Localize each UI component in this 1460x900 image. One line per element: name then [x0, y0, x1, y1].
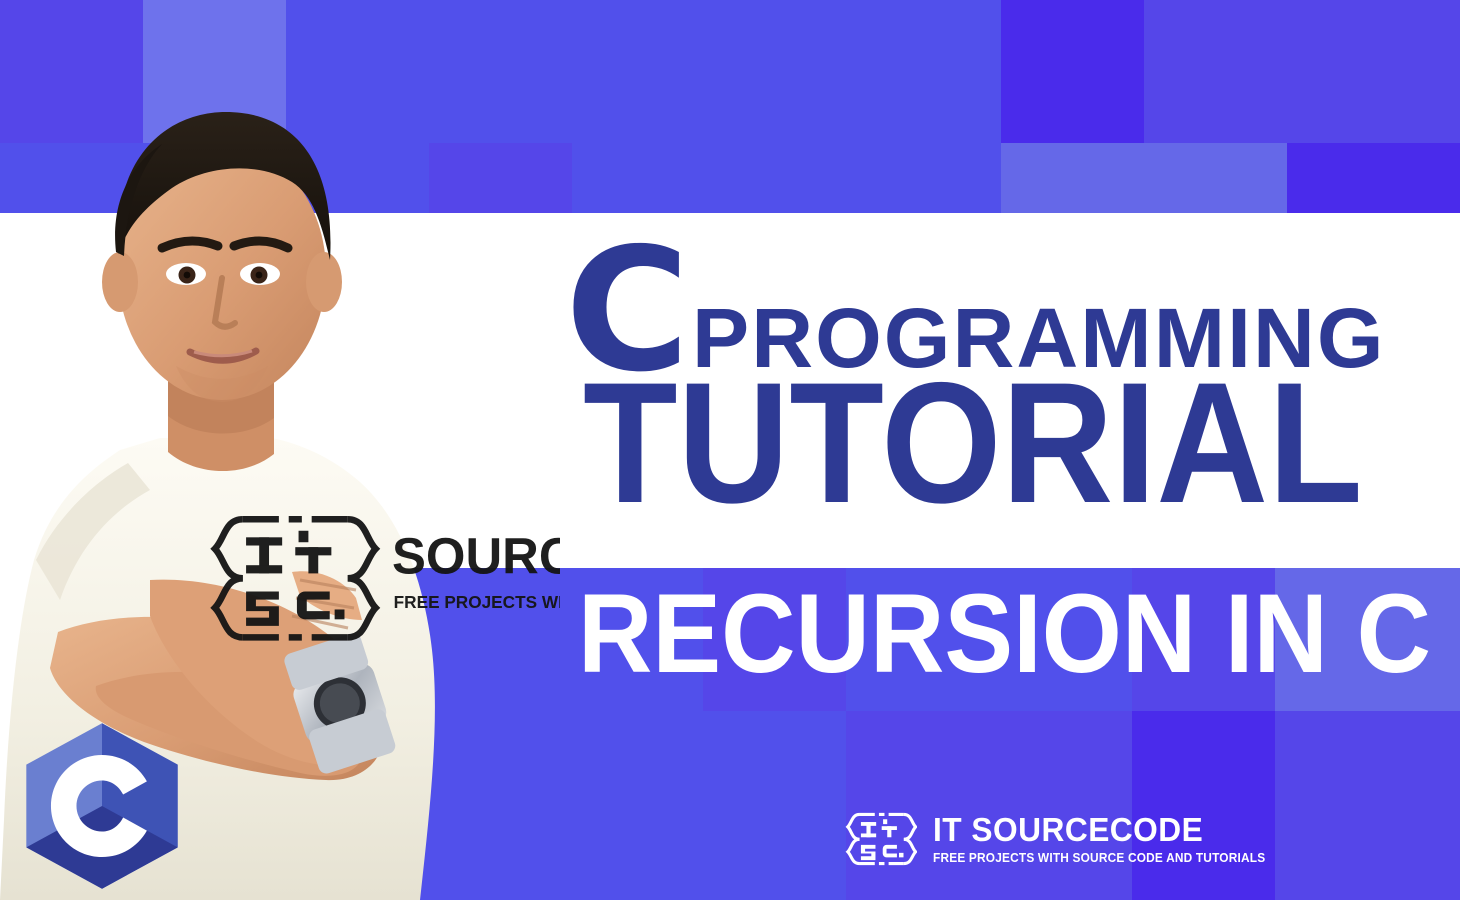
headline-tutorial: TUTORIAL: [583, 368, 1363, 519]
svg-text:SOURCECODE: SOURCECODE: [392, 527, 560, 584]
brand-lockup: IT SOURCECODE FREE PROJECTS WITH SOURCE …: [845, 806, 1283, 872]
brand-name: IT SOURCECODE: [933, 813, 1269, 846]
thumbnail-canvas: SOURCECODE FREE PROJECTS WITH SOURCE COD…: [0, 0, 1460, 900]
subtitle-text: RECURSION IN C: [578, 578, 1431, 690]
background-tile: [1275, 711, 1460, 900]
background-tile: [1001, 0, 1144, 143]
background-tile: [572, 0, 715, 143]
svg-text:FREE PROJECTS WITH SOURCE CODE: FREE PROJECTS WITH SOURCE CODE AND TUTOR…: [394, 592, 560, 612]
background-tile: [715, 0, 858, 143]
headline-block: C PROGRAMMING TUTORIAL: [565, 228, 1460, 568]
background-tile: [560, 711, 703, 900]
brand-text-block: IT SOURCECODE FREE PROJECTS WITH SOURCE …: [933, 813, 1283, 865]
background-tile: [703, 711, 846, 900]
brand-tagline: FREE PROJECTS WITH SOURCE CODE AND TUTOR…: [933, 852, 1265, 865]
itsc-logo-icon: [845, 806, 917, 872]
c-language-hexagon-logo: [14, 718, 190, 894]
background-tile: [1144, 0, 1287, 143]
background-tile: [1287, 0, 1460, 143]
background-tile: [858, 0, 1001, 143]
